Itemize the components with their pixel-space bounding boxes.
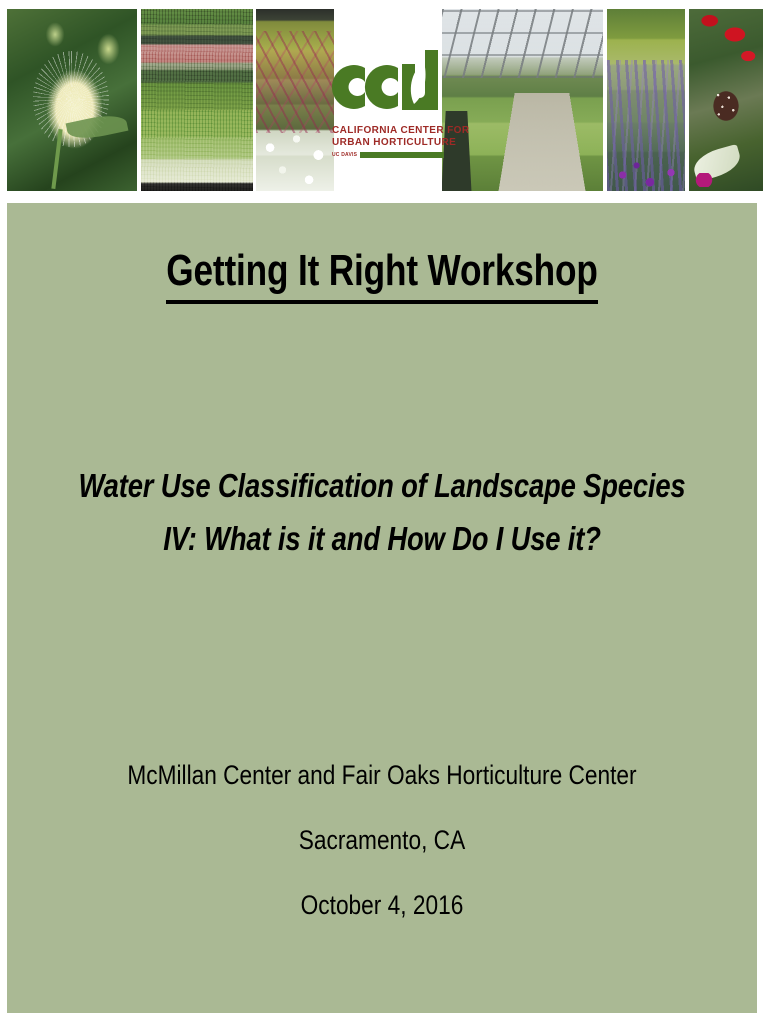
ccuh-wordmark-icon (332, 48, 444, 122)
photo-lavender-violets (607, 151, 685, 191)
slide-body-panel: Getting It Right Workshop Water Use Clas… (7, 203, 757, 1013)
slide-subtitle: Water Use Classification of Landscape Sp… (76, 459, 689, 565)
photo-butterfly-magenta-bloom (695, 173, 713, 187)
ccuh-logo: CALIFORNIA CENTER FOR URBAN HORTICULTURE… (332, 48, 444, 166)
ccuh-logo-line2: URBAN HORTICULTURE (332, 137, 444, 149)
photo-vine-foliage (256, 9, 334, 191)
photo-greenhouse (442, 9, 603, 191)
photo-nursery-flats (141, 9, 253, 191)
event-date: October 4, 2016 (67, 873, 697, 938)
photo-vine-foliage-blooms (256, 129, 334, 191)
presentation-slide: CALIFORNIA CENTER FOR URBAN HORTICULTURE… (0, 0, 770, 1024)
photo-greenhouse-gutter (442, 111, 472, 191)
photo-butterfly-insect (708, 85, 744, 127)
ucdavis-wordmark: UC DAVIS (332, 152, 357, 158)
venue-name: McMillan Center and Fair Oaks Horticultu… (67, 743, 697, 808)
photo-vine-foliage-veins (256, 31, 334, 133)
ccuh-logo-line1: CALIFORNIA CENTER FOR (332, 125, 444, 137)
photo-greenhouse-frame (442, 9, 603, 78)
page-title: Getting It Right Workshop (82, 245, 682, 304)
venue-location: Sacramento, CA (67, 808, 697, 873)
ccuh-logo-footer: UC DAVIS (332, 152, 444, 158)
photo-nursery-flats-texture (141, 9, 253, 191)
photo-buttonbush (7, 9, 137, 191)
ccuh-logo-rule (360, 152, 444, 158)
event-details: McMillan Center and Fair Oaks Horticultu… (67, 743, 697, 938)
photo-lavender (607, 9, 685, 191)
page-title-text: Getting It Right Workshop (166, 245, 597, 304)
photo-butterfly (689, 9, 763, 191)
